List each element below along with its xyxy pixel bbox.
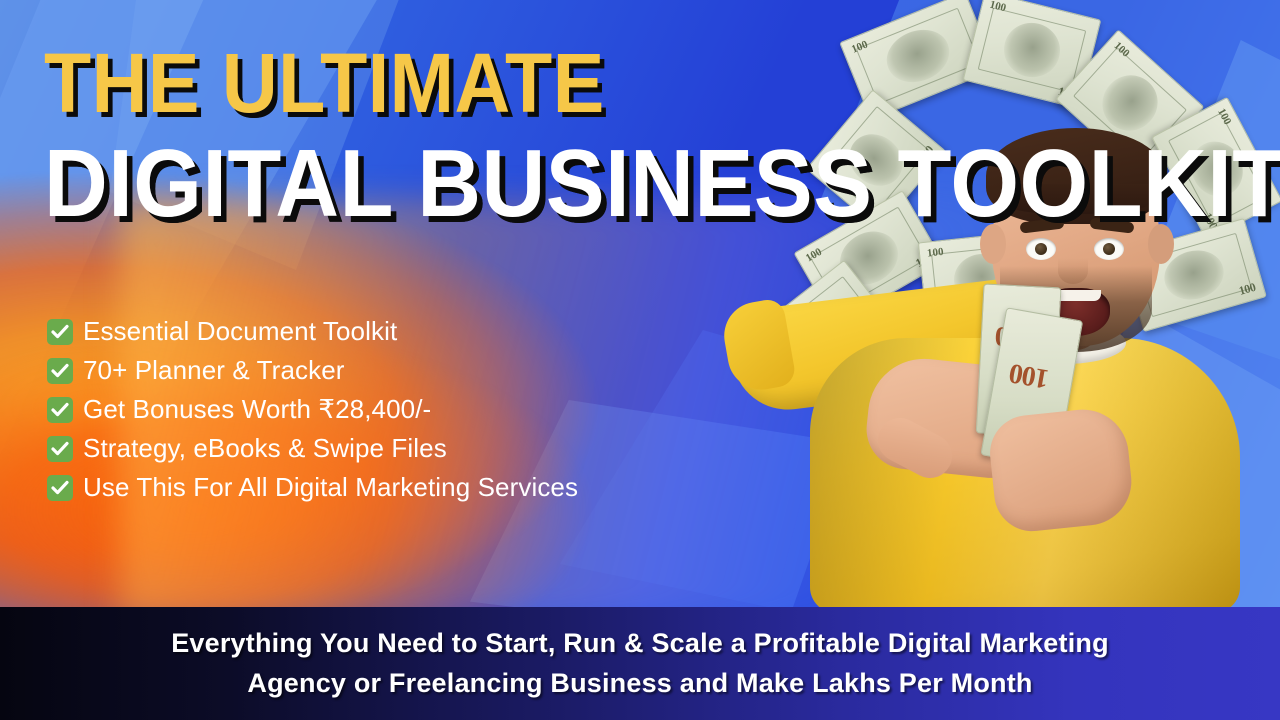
cash-note-value: 100: [1007, 356, 1051, 394]
list-item-label: Essential Document Toolkit: [83, 316, 397, 347]
check-icon: [47, 436, 73, 462]
list-item: Essential Document Toolkit: [47, 312, 578, 351]
eye-left: [1026, 238, 1056, 260]
check-icon: [47, 319, 73, 345]
list-item: Strategy, eBooks & Swipe Files: [47, 429, 578, 468]
money-note-corner: 100: [988, 0, 1007, 15]
caption-line-2: Agency or Freelancing Business and Make …: [171, 664, 1109, 703]
headline-line-1: THE ULTIMATE: [44, 44, 1280, 124]
list-item-label: 70+ Planner & Tracker: [83, 355, 345, 386]
nose: [1058, 258, 1088, 284]
headline-line-2: DIGITAL BUSINESS TOOLKIT: [44, 138, 1280, 229]
list-item: Use This For All Digital Marketing Servi…: [47, 468, 578, 507]
list-item: Get Bonuses Worth ₹28,400/-: [47, 390, 578, 429]
artwork-stage: 100 100 100 100 100 100 100 100 100 100 …: [0, 0, 1280, 607]
hand-gripping-cash: [986, 405, 1135, 535]
feature-list: Essential Document Toolkit 70+ Planner &…: [47, 312, 578, 507]
promo-banner: 100 100 100 100 100 100 100 100 100 100 …: [0, 0, 1280, 720]
headline-block: THE ULTIMATE DIGITAL BUSINESS TOOLKIT: [44, 44, 1280, 229]
list-item-label: Use This For All Digital Marketing Servi…: [83, 472, 578, 503]
caption-bar: Everything You Need to Start, Run & Scal…: [0, 607, 1280, 720]
list-item: 70+ Planner & Tracker: [47, 351, 578, 390]
list-item-label: Get Bonuses Worth ₹28,400/-: [83, 394, 431, 425]
check-icon: [47, 358, 73, 384]
eye-right: [1094, 238, 1124, 260]
list-item-label: Strategy, eBooks & Swipe Files: [83, 433, 447, 464]
caption-text-block: Everything You Need to Start, Run & Scal…: [101, 624, 1179, 702]
check-icon: [47, 475, 73, 501]
check-icon: [47, 397, 73, 423]
caption-line-1: Everything You Need to Start, Run & Scal…: [171, 624, 1109, 663]
